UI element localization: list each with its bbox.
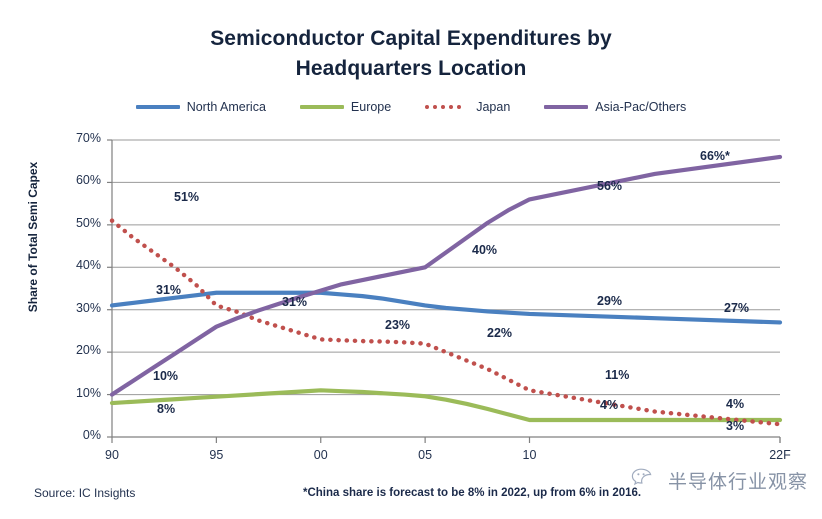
x-tick-label: 00	[291, 448, 351, 462]
y-tick-label: 0%	[45, 428, 101, 442]
data-label-asia-pac-1990: 10%	[153, 369, 178, 383]
x-tick-label: 05	[395, 448, 455, 462]
chart-container: Semiconductor Capital Expenditures by He…	[0, 0, 822, 519]
data-label-north-america-2022: 27%	[724, 301, 749, 315]
data-label-asia-pac-2022: 66%*	[700, 149, 730, 163]
chart-title: Semiconductor Capital Expenditures by He…	[0, 24, 822, 84]
data-label-japan-2005: 22%	[487, 326, 512, 340]
data-label-europe-1990: 8%	[157, 402, 175, 416]
chart-title-line-1: Semiconductor Capital Expenditures by	[210, 27, 612, 50]
data-label-japan-2010: 11%	[605, 368, 629, 382]
legend-swatch-japan	[425, 105, 469, 109]
legend-item-europe[interactable]: Europe	[300, 100, 391, 114]
data-label-japan-2000: 23%	[385, 318, 410, 332]
data-label-europe-2010: 4%	[600, 398, 618, 412]
legend-label-asia-pac-others: Asia-Pac/Others	[595, 100, 686, 114]
chart-title-line-2: Headquarters Location	[0, 54, 822, 84]
x-tick-label: 90	[82, 448, 142, 462]
watermark: 半导体行业观察	[630, 466, 808, 495]
y-tick-label: 70%	[45, 131, 101, 145]
y-tick-label: 60%	[45, 173, 101, 187]
data-label-japan-1995: 31%	[282, 295, 307, 309]
y-tick-label: 30%	[45, 301, 101, 315]
legend-item-north-america[interactable]: North America	[136, 100, 266, 114]
data-label-asia-pac-2005: 40%	[472, 243, 497, 257]
source-note: Source: IC Insights	[34, 486, 135, 500]
y-tick-label: 20%	[45, 343, 101, 357]
x-tick-label: 22F	[750, 448, 810, 462]
legend-item-japan[interactable]: Japan	[425, 100, 510, 114]
y-axis-title: Share of Total Semi Capex	[26, 142, 40, 332]
legend-label-japan: Japan	[476, 100, 510, 114]
data-label-asia-pac-2010: 56%	[597, 179, 622, 193]
data-label-north-america-1990: 31%	[156, 283, 181, 297]
y-tick-label: 40%	[45, 258, 101, 272]
chart-legend: North America Europe Japan Asia-Pac/Othe…	[0, 100, 822, 114]
x-tick-label: 10	[500, 448, 560, 462]
data-label-japan-2022: 3%	[726, 419, 744, 433]
legend-label-north-america: North America	[187, 100, 266, 114]
legend-swatch-north-america	[136, 105, 180, 109]
x-tick-label: 95	[186, 448, 246, 462]
y-tick-label: 50%	[45, 216, 101, 230]
data-label-europe-2022: 4%	[726, 397, 744, 411]
wechat-icon	[630, 466, 660, 495]
legend-label-europe: Europe	[351, 100, 391, 114]
data-label-japan-1990: 51%	[174, 190, 199, 204]
legend-item-asia-pac-others[interactable]: Asia-Pac/Others	[544, 100, 686, 114]
data-label-north-america-2010: 29%	[597, 294, 622, 308]
china-share-footnote: *China share is forecast to be 8% in 202…	[303, 487, 641, 499]
y-tick-label: 10%	[45, 386, 101, 400]
watermark-text: 半导体行业观察	[668, 467, 808, 494]
legend-swatch-europe	[300, 105, 344, 109]
legend-swatch-asia-pac-others	[544, 105, 588, 109]
